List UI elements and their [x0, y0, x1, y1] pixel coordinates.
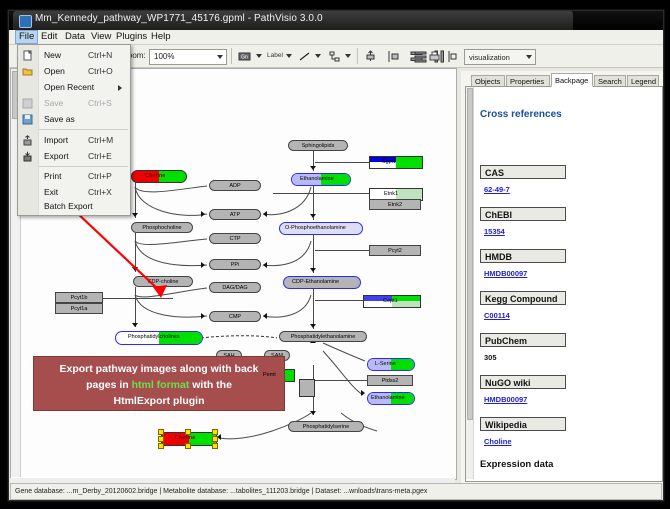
side-panel: Objects Properties Backpage Search Legen… — [461, 71, 664, 483]
chevron-down-icon[interactable] — [286, 54, 292, 58]
align-center-icon[interactable] — [445, 49, 460, 64]
file-menu-dropdown: New Ctrl+N Open Ctrl+O Open Recent Save … — [17, 44, 131, 216]
arrowhead-icon — [310, 166, 316, 170]
edge — [315, 300, 363, 301]
backpage-content: Cross references CAS 62-49-7 ChEBI 15354… — [465, 86, 663, 482]
selection-handle[interactable] — [158, 429, 164, 435]
xref-value-kegg[interactable]: C00114 — [484, 311, 510, 320]
menu-item-save: Save Ctrl+S — [18, 96, 130, 111]
node-ctp[interactable]: CTP — [209, 233, 261, 244]
node-l-serine-label: L-Serine — [375, 361, 396, 367]
line-icon[interactable] — [297, 49, 312, 64]
menu-item-shortcut: Ctrl+N — [88, 50, 112, 60]
menu-item-batch-export[interactable]: Batch Export — [18, 199, 130, 214]
selection-handle[interactable] — [212, 429, 218, 435]
menu-item-import[interactable]: Import Ctrl+M — [18, 133, 130, 148]
chevron-down-icon[interactable] — [315, 54, 321, 58]
menu-item-shortcut: Ctrl+M — [88, 135, 113, 145]
menu-file[interactable]: File — [15, 30, 38, 44]
node-pcyt1b[interactable]: Pcyt1b — [55, 292, 103, 303]
node-cmp[interactable]: CMP — [209, 311, 261, 322]
xref-source-hmdb: HMDB — [480, 249, 566, 263]
panel-tabs: Objects Properties Backpage Search Legen… — [465, 73, 661, 87]
menu-item-shortcut: Ctrl+P — [88, 171, 112, 181]
node-phosphatidylethanolamine[interactable]: Phosphatidylethanolamine — [279, 331, 367, 342]
menu-edit[interactable]: Edit — [37, 31, 61, 43]
xref-source-chebi: ChEBI — [480, 207, 566, 221]
edge — [315, 380, 367, 381]
menubar: File Edit Data View Plugins Help — [9, 30, 663, 45]
callout-line2b: with the — [189, 379, 232, 391]
datanode-icon[interactable]: Gn — [237, 49, 252, 64]
statusbar-text: Gene database: ...m_Derby_20120602.bridg… — [15, 484, 427, 499]
arrowhead-icon — [263, 313, 267, 319]
arrowhead-icon — [361, 390, 365, 396]
menu-item-label: Save — [44, 98, 63, 108]
node-choline-selected-label: Choline — [175, 435, 195, 441]
node-etnk1-label: Etnk1 — [384, 191, 398, 197]
chevron-down-icon[interactable] — [256, 54, 262, 58]
titlebar-inner: Mm_Kennedy_pathway_WP1771_45176.gpml - P… — [13, 11, 573, 30]
menu-plugins[interactable]: Plugins — [112, 31, 151, 43]
visualization-combobox[interactable]: visualization — [464, 49, 536, 65]
xref-source-pubchem: PubChem — [480, 333, 566, 347]
node-phosphatidylcholines-label: Phosphatidylcholines — [128, 334, 180, 340]
node-ppi[interactable]: PPi — [209, 259, 261, 270]
selection-handle[interactable] — [158, 443, 164, 449]
edge — [313, 233, 314, 273]
chevron-right-icon — [118, 85, 122, 91]
menu-item-label: Export — [44, 151, 69, 161]
node-phosphocholine[interactable]: Phosphocholine — [131, 222, 193, 233]
menu-item-shortcut: Ctrl+E — [88, 151, 112, 161]
node-ethanolamine-label: Ethanolamine — [300, 176, 334, 182]
align-left-icon[interactable] — [386, 49, 401, 64]
statusbar: Gene database: ...m_Derby_20120602.bridg… — [10, 483, 662, 500]
arrowhead-icon — [310, 268, 316, 272]
node-ptdss2[interactable]: Ptdss2 — [367, 375, 413, 386]
pathvisio-window: Mm_Kennedy_pathway_WP1771_45176.gpml - P… — [8, 10, 664, 501]
xref-value-cas[interactable]: 62-49-7 — [484, 185, 510, 194]
arrowhead-icon — [310, 324, 316, 328]
xref-value-hmdb[interactable]: HMDB00097 — [484, 269, 527, 278]
callout-highlight: html format — [132, 379, 190, 391]
node-sphingolipids[interactable]: Sphingolipids — [288, 140, 348, 151]
stack-icon[interactable] — [413, 49, 428, 64]
tab-backpage[interactable]: Backpage — [551, 73, 593, 87]
menu-help[interactable]: Help — [147, 31, 175, 43]
annotation-callout: Export pathway images along with back pa… — [33, 356, 285, 411]
svg-text:Gn: Gn — [241, 55, 248, 61]
selection-handle[interactable] — [212, 443, 218, 449]
window-titlebar: Mm_Kennedy_pathway_WP1771_45176.gpml - P… — [9, 11, 663, 30]
visualization-value: visualization — [469, 53, 510, 62]
chevron-down-icon — [217, 55, 223, 59]
arrowhead-icon — [310, 214, 316, 218]
interaction-icon[interactable] — [327, 49, 342, 64]
node-sgpl1-label: Sgpl1 — [382, 159, 396, 165]
callout-line2a: pages in — [86, 379, 132, 391]
menu-item-label: Import — [44, 135, 68, 145]
menu-item-new[interactable]: New Ctrl+N — [18, 48, 130, 63]
pathvisio-icon — [19, 15, 32, 28]
node-pcyt1a[interactable]: Pcyt1a — [55, 303, 103, 314]
arrowhead-icon — [201, 211, 205, 217]
cross-references-title: Cross references — [480, 109, 562, 120]
xref-value-chebi[interactable]: 15354 — [484, 227, 505, 236]
xref-value-wikipedia[interactable]: Choline — [484, 437, 512, 446]
align-top-icon[interactable] — [363, 49, 378, 64]
zoom-value: 100% — [154, 52, 174, 61]
menu-item-exit[interactable]: Exit Ctrl+X — [18, 185, 130, 200]
node-pemt-label: Pemt — [263, 372, 276, 378]
arrowhead-icon — [263, 262, 267, 268]
xref-value-nugo[interactable]: HMDB00097 — [484, 395, 527, 404]
menu-item-label: Open — [44, 66, 65, 76]
import-icon — [22, 135, 33, 146]
toolbar-separator — [357, 48, 358, 64]
new-file-icon — [22, 50, 33, 61]
menu-item-open[interactable]: Open Ctrl+O — [18, 64, 130, 79]
xref-source-kegg: Kegg Compound — [480, 291, 566, 305]
menu-item-print[interactable]: Print Ctrl+P — [18, 169, 130, 184]
arrowhead-icon — [263, 211, 267, 217]
edge — [103, 298, 173, 299]
edge — [315, 162, 369, 163]
callout-line1: Export pathway images along with back — [60, 363, 259, 375]
chevron-down-icon — [526, 55, 532, 59]
callout-line3: HtmlExport plugin — [114, 395, 205, 407]
node-adp[interactable]: ADP — [209, 180, 261, 191]
menu-item-label: Print — [44, 171, 61, 181]
menu-separator — [39, 166, 128, 167]
node-ethanolamine-bottom-label: Ethanolamine — [371, 395, 405, 401]
open-folder-icon — [22, 66, 33, 77]
selection-handle[interactable] — [185, 443, 191, 449]
xref-source-nugo: NuGO wiki — [480, 375, 566, 389]
menu-item-label: Batch Export — [44, 201, 93, 211]
menu-item-save-as[interactable]: Save as — [18, 112, 130, 127]
printer-icon[interactable] — [427, 49, 442, 64]
menu-separator — [39, 129, 128, 130]
menu-item-label: Open Recent — [44, 82, 94, 92]
node-choline-label: Choline — [145, 173, 165, 179]
xref-value-pubchem: 305 — [484, 353, 497, 362]
node-phosphatidylserine[interactable]: Phosphatidylserine — [288, 421, 364, 432]
node-cdp-ethanolamine-label: CDP-Ethanolamine — [292, 279, 339, 285]
node-atp[interactable]: ATP — [209, 209, 261, 220]
edge — [273, 193, 369, 194]
scrollbar-thumb[interactable] — [467, 88, 473, 420]
node-pld1[interactable] — [299, 379, 315, 397]
label-button[interactable]: Label — [267, 52, 283, 59]
node-dag[interactable]: DAG/DAG — [209, 282, 261, 293]
menu-data[interactable]: Data — [61, 31, 89, 43]
chevron-down-icon[interactable] — [345, 54, 351, 58]
panel-vertical-scrollbar[interactable] — [466, 87, 474, 479]
node-pcyt2[interactable]: Pcyt2 — [369, 245, 421, 256]
node-cept1-label: Cept1 — [383, 298, 398, 304]
menu-item-shortcut: Ctrl+X — [88, 187, 112, 197]
toolbar-separator — [231, 48, 232, 64]
arrowhead-icon — [201, 262, 205, 268]
xref-source-wikipedia: Wikipedia — [480, 417, 566, 431]
node-etnk2[interactable]: Etnk2 — [369, 199, 421, 210]
node-cdp-choline[interactable]: CDP-choline — [133, 276, 193, 287]
edge — [313, 287, 314, 329]
arrowhead-icon — [201, 313, 205, 319]
export-icon — [22, 151, 33, 162]
xref-source-cas: CAS — [480, 165, 566, 179]
menu-item-label: Save as — [44, 114, 75, 124]
menu-item-label: New — [44, 50, 61, 60]
expression-data-title: Expression data — [480, 459, 553, 470]
node-o-phosphoethanolamine-label: O-Phosphoethanolamine — [285, 225, 346, 231]
window-title: Mm_Kennedy_pathway_WP1771_45176.gpml - P… — [35, 13, 323, 24]
menu-item-shortcut: Ctrl+S — [88, 98, 112, 108]
menu-item-export[interactable]: Export Ctrl+E — [18, 149, 130, 164]
screenshot-frame: Mm_Kennedy_pathway_WP1771_45176.gpml - P… — [0, 0, 670, 509]
menu-item-label: Exit — [44, 187, 58, 197]
save-icon — [22, 98, 33, 109]
menu-item-open-recent[interactable]: Open Recent — [18, 80, 130, 95]
arrowhead-icon — [310, 411, 316, 415]
edge — [315, 250, 369, 251]
selection-handle[interactable] — [158, 436, 164, 442]
save-as-icon — [22, 114, 33, 125]
zoom-combobox[interactable]: 100% — [149, 49, 227, 65]
selection-handle[interactable] — [212, 436, 218, 442]
menu-item-shortcut: Ctrl+O — [88, 66, 113, 76]
